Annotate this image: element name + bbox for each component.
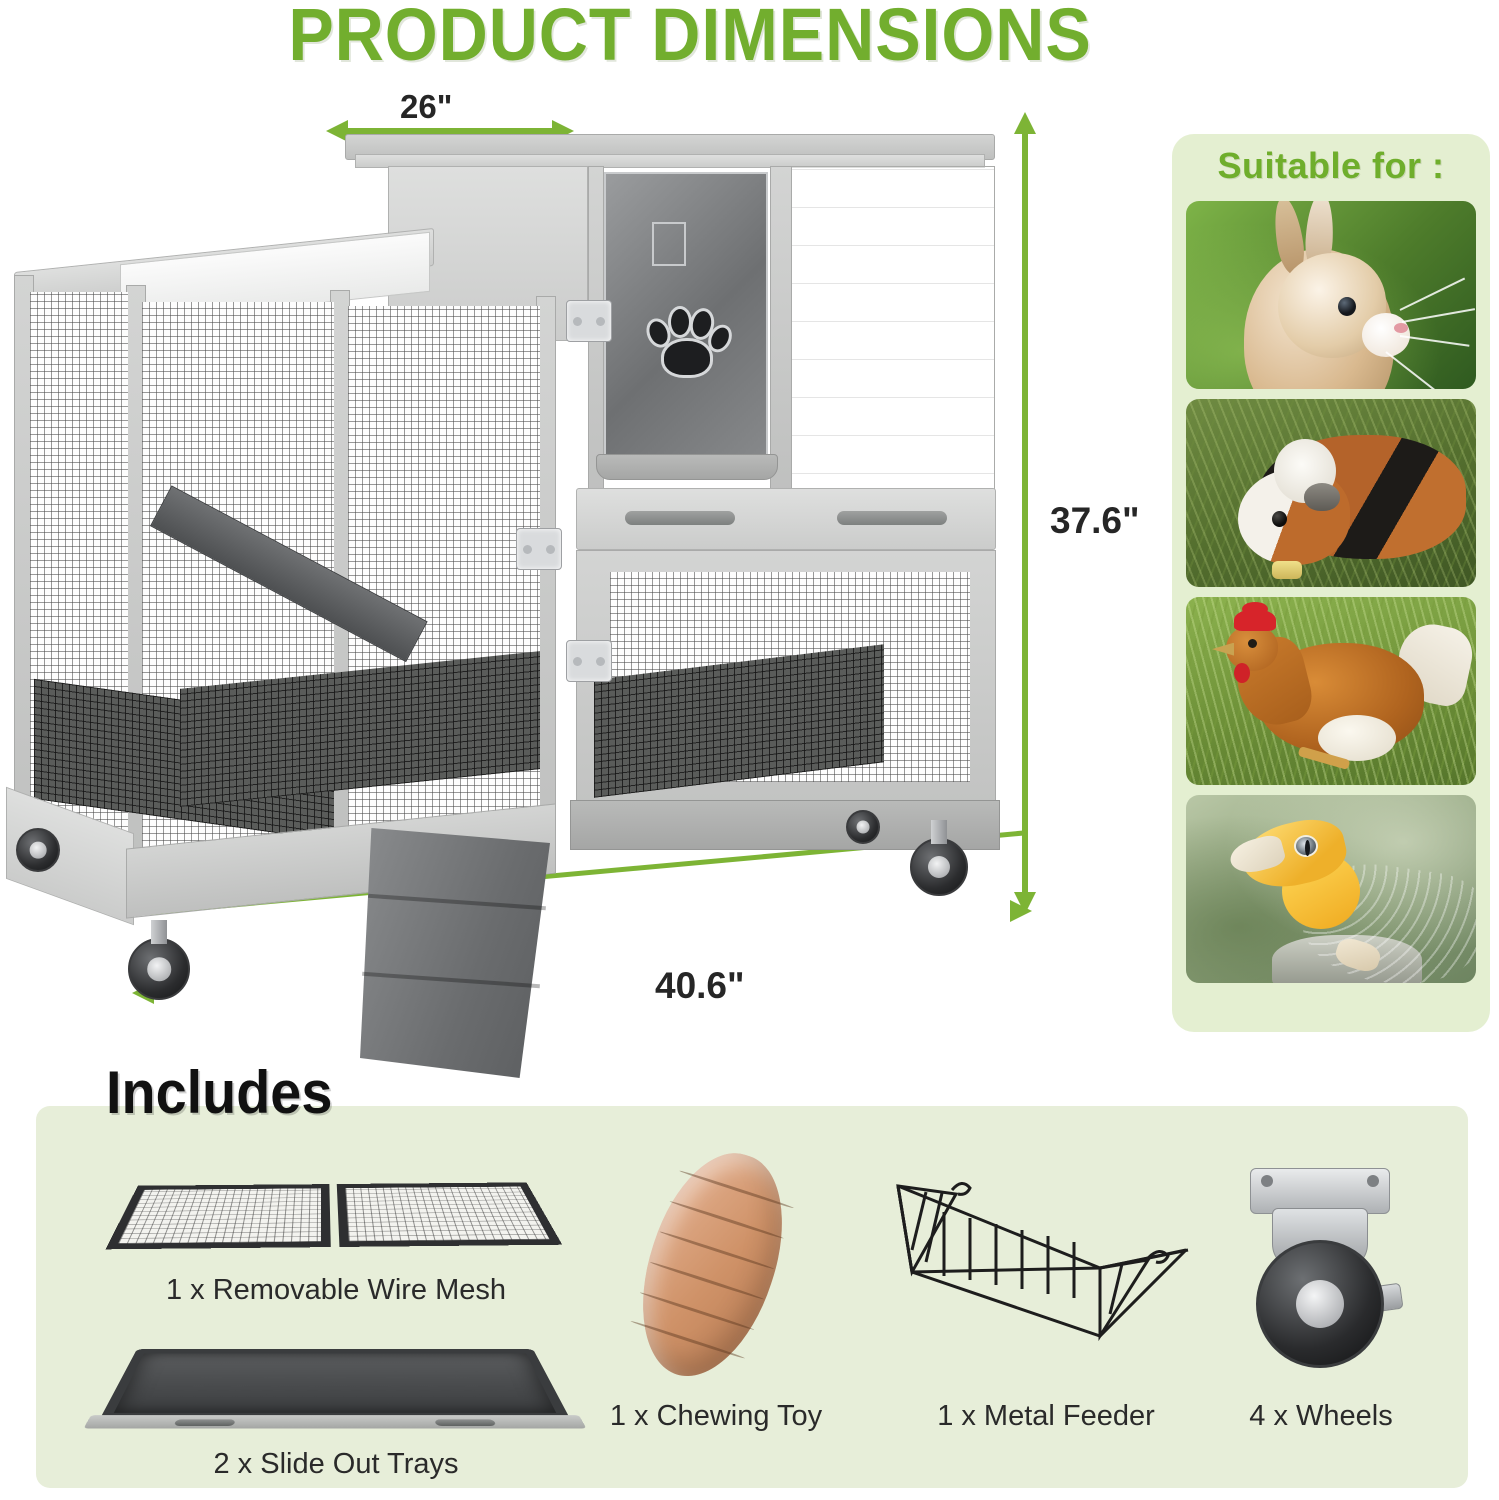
paw-print-icon	[648, 305, 724, 375]
suitable-for-heading: Suitable for :	[1186, 142, 1476, 191]
hinge-middle	[516, 528, 562, 570]
hinge-top	[566, 300, 612, 342]
includes-panel: Includes 1 x Removable Wire Mesh 2 x Sli…	[36, 1106, 1468, 1488]
includes-label-wheels: 4 x Wheels	[1196, 1400, 1446, 1433]
includes-label-wire-mesh: 1 x Removable Wire Mesh	[96, 1274, 576, 1307]
page-title: PRODUCT DIMENSIONS	[239, 0, 1141, 77]
includes-heading: Includes	[106, 1058, 332, 1127]
feeder-tray-lip	[596, 454, 778, 480]
height-arrow	[1022, 130, 1028, 900]
wire-mesh-icon	[105, 1182, 562, 1249]
house-post-right	[770, 166, 792, 496]
includes-label-chewing-toy: 1 x Chewing Toy	[576, 1400, 856, 1433]
drawer-handle-left[interactable]	[625, 511, 735, 525]
caster-wheel-front-left	[128, 938, 190, 1000]
animal-photo-chicken	[1186, 597, 1476, 785]
product-illustration: 26" 37.6" 40.6"	[0, 110, 1060, 1070]
paw-print-panel	[604, 172, 768, 462]
drawer-handle-right[interactable]	[837, 511, 947, 525]
caster-wheel-front-right	[910, 838, 968, 896]
caster-wheel-icon	[1226, 1168, 1416, 1378]
suitable-for-panel: Suitable for :	[1172, 134, 1490, 1032]
dimension-width-label: 26"	[400, 88, 452, 126]
house-side-siding	[790, 166, 995, 496]
dimension-depth-label: 40.6"	[655, 965, 745, 1007]
animal-photo-leopard-gecko	[1186, 795, 1476, 983]
includes-label-metal-feeder: 1 x Metal Feeder	[896, 1400, 1196, 1433]
animal-photo-guinea-pig	[1186, 399, 1476, 587]
panel-latch-slot	[652, 222, 686, 266]
height-arrow-head-up	[1014, 112, 1036, 134]
exterior-ramp	[360, 828, 550, 1078]
hinge-bottom	[566, 640, 612, 682]
slide-out-tray-icon	[100, 1349, 570, 1419]
depth-arrow-head-right	[1010, 900, 1032, 922]
dimension-height-label: 37.6"	[1050, 500, 1140, 542]
caster-wheel-rear-left	[16, 828, 60, 872]
includes-label-slide-out-trays: 2 x Slide Out Trays	[96, 1448, 576, 1481]
slide-out-drawer[interactable]	[576, 488, 996, 550]
metal-feeder-icon	[886, 1176, 1206, 1346]
chew-toy-icon	[617, 1136, 806, 1393]
animal-photo-rabbit	[1186, 201, 1476, 389]
caster-wheel-rear-right	[846, 810, 880, 844]
